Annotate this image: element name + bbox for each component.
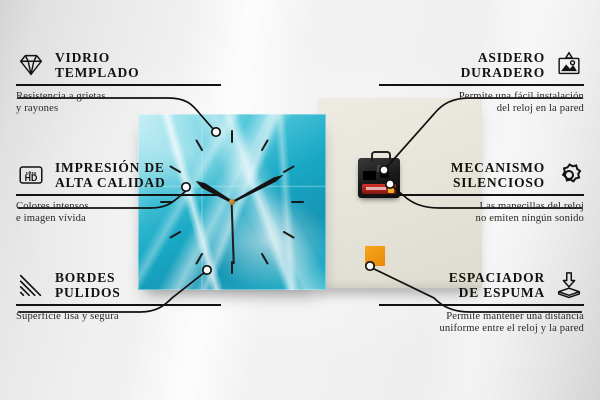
feature-title: ASIDERO DURADERO bbox=[461, 50, 545, 80]
hanging-picture-icon bbox=[554, 50, 584, 80]
feature-header: ASIDERO DURADERO bbox=[379, 50, 584, 80]
feature-divider bbox=[379, 304, 584, 306]
clock-center-cap bbox=[229, 199, 235, 205]
feature-header: MECANISMO SILENCIOSO bbox=[379, 160, 584, 190]
feature-divider bbox=[16, 304, 221, 306]
feature-header: ESPACIADOR DE ESPUMA bbox=[379, 270, 584, 300]
clock-tick bbox=[232, 201, 304, 203]
diamond-icon bbox=[16, 50, 46, 80]
feature-divider bbox=[16, 84, 221, 86]
feature-title: MECANISMO SILENCIOSO bbox=[451, 160, 545, 190]
feature-bordes-pulidos[interactable]: BORDES PULIDOS Superficie lisa y segura bbox=[16, 270, 221, 323]
feature-description: Las manecillas del reloj no emiten ningú… bbox=[379, 201, 584, 226]
ultra-hd-badge-icon: ultra HD bbox=[16, 160, 46, 190]
foam-spacer-icon bbox=[554, 270, 584, 300]
feature-mecanismo-silencioso[interactable]: MECANISMO SILENCIOSO Las manecillas del … bbox=[379, 160, 584, 226]
feature-espaciador-de-espuma[interactable]: ESPACIADOR DE ESPUMA Permite mantener un… bbox=[379, 270, 584, 336]
feature-description: Superficie lisa y segura bbox=[16, 311, 221, 324]
feature-title: IMPRESIÓN DE ALTA CALIDAD bbox=[55, 160, 166, 190]
foam-spacer bbox=[365, 246, 385, 266]
infographic-canvas: VIDRIO TEMPLADO Resistencia a grietas y … bbox=[0, 0, 600, 400]
feature-description: Resistencia a grietas y rayones bbox=[16, 91, 221, 116]
feature-divider bbox=[16, 194, 221, 196]
feature-description: Colores intensos e imagen vívida bbox=[16, 201, 221, 226]
feature-description: Permite una fácil instalación del reloj … bbox=[379, 91, 584, 116]
movement-slot-left bbox=[363, 171, 376, 180]
gear-icon bbox=[554, 160, 584, 190]
clock-tick bbox=[231, 130, 233, 202]
feature-header: VIDRIO TEMPLADO bbox=[16, 50, 221, 80]
feature-divider bbox=[379, 84, 584, 86]
feature-description: Permite mantener una distancia uniforme … bbox=[379, 311, 584, 336]
polished-edges-icon bbox=[16, 270, 46, 300]
feature-title: VIDRIO TEMPLADO bbox=[55, 50, 139, 80]
feature-impresion-alta-calidad[interactable]: ultra HD IMPRESIÓN DE ALTA CALIDAD Color… bbox=[16, 160, 221, 226]
feature-title: ESPACIADOR DE ESPUMA bbox=[449, 270, 545, 300]
feature-header: ultra HD IMPRESIÓN DE ALTA CALIDAD bbox=[16, 160, 221, 190]
svg-text:HD: HD bbox=[25, 173, 38, 183]
feature-divider bbox=[379, 194, 584, 196]
feature-title: BORDES PULIDOS bbox=[55, 270, 121, 300]
feature-asidero-duradero[interactable]: ASIDERO DURADERO Permite una fácil insta… bbox=[379, 50, 584, 116]
feature-header: BORDES PULIDOS bbox=[16, 270, 221, 300]
feature-vidrio-templado[interactable]: VIDRIO TEMPLADO Resistencia a grietas y … bbox=[16, 50, 221, 116]
